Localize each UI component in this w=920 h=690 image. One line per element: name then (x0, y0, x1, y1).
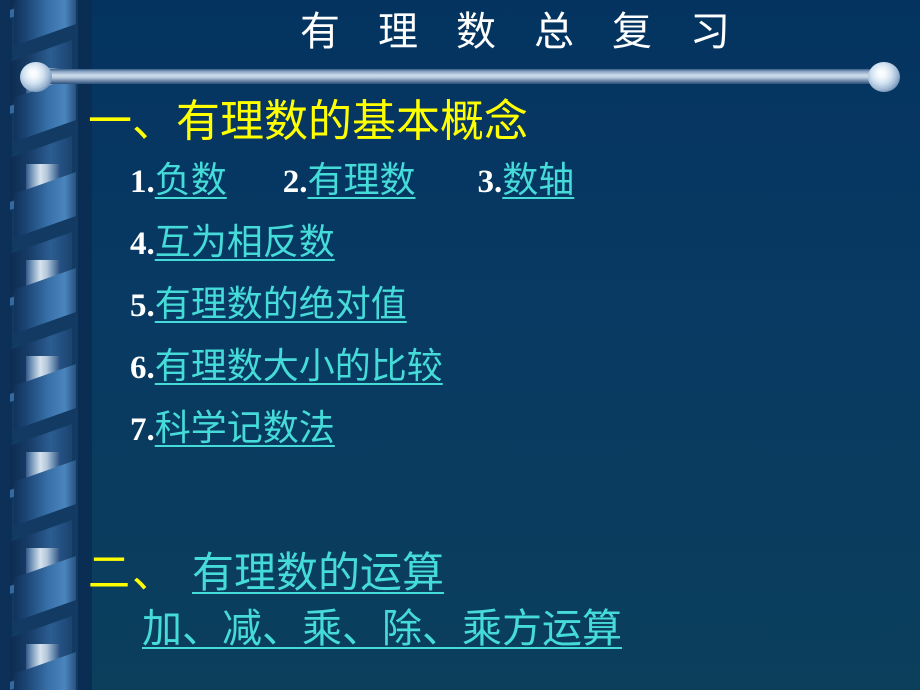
divider (0, 64, 920, 88)
divider-bar (30, 69, 892, 84)
item-number: 7. (130, 412, 155, 448)
section-two-subtitle: 加、减、乘、除、乘方运算 (80, 600, 910, 658)
section-two-topic-link[interactable]: 有理数的运算 (192, 551, 444, 597)
section-two: 二、有理数的运算 加、减、乘、除、乘方运算 (80, 548, 910, 658)
slide-body: 一、有理数的基本概念 1.负数2.有理数3.数轴 4.互为相反数 5.有理数的绝… (80, 96, 910, 686)
divider-right-glow-icon (868, 62, 900, 92)
item-topic-link[interactable]: 有理数的绝对值 (155, 284, 407, 324)
list-item: 6.有理数大小的比较 (130, 336, 910, 398)
item-topic-link[interactable]: 互为相反数 (155, 222, 335, 262)
slide-canvas: 有 理 数 总 复 习 一、有理数的基本概念 1.负数2.有理数3.数轴 4.互… (0, 0, 920, 690)
list-item: 4.互为相反数 (130, 212, 910, 274)
divider-left-glow-icon (20, 62, 52, 92)
item-topic-link[interactable]: 负数 (155, 160, 227, 200)
section-one-heading: 一、有理数的基本概念 (80, 96, 910, 148)
item-topic-link[interactable]: 科学记数法 (155, 408, 335, 448)
list-item: 5.有理数的绝对值 (130, 274, 910, 336)
section-two-number: 二、 (88, 551, 176, 597)
list-item: 7.科学记数法 (130, 398, 910, 460)
slide-title: 有 理 数 总 复 习 (120, 2, 910, 62)
section-two-subtitle-link[interactable]: 加、减、乘、除、乘方运算 (142, 606, 622, 651)
item-number: 3. (478, 164, 503, 200)
item-number: 4. (130, 226, 155, 262)
item-topic-link[interactable]: 有理数大小的比较 (155, 346, 443, 386)
item-number: 1. (130, 164, 155, 200)
item-topic-link[interactable]: 有理数 (308, 160, 416, 200)
section-one-list: 1.负数2.有理数3.数轴 4.互为相反数 5.有理数的绝对值 6.有理数大小的… (80, 150, 910, 460)
list-item: 1.负数2.有理数3.数轴 (130, 150, 910, 212)
section-two-heading: 二、有理数的运算 (80, 548, 910, 600)
item-number: 6. (130, 350, 155, 386)
item-topic-link[interactable]: 数轴 (502, 160, 574, 200)
item-number: 5. (130, 288, 155, 324)
item-number: 2. (283, 164, 308, 200)
